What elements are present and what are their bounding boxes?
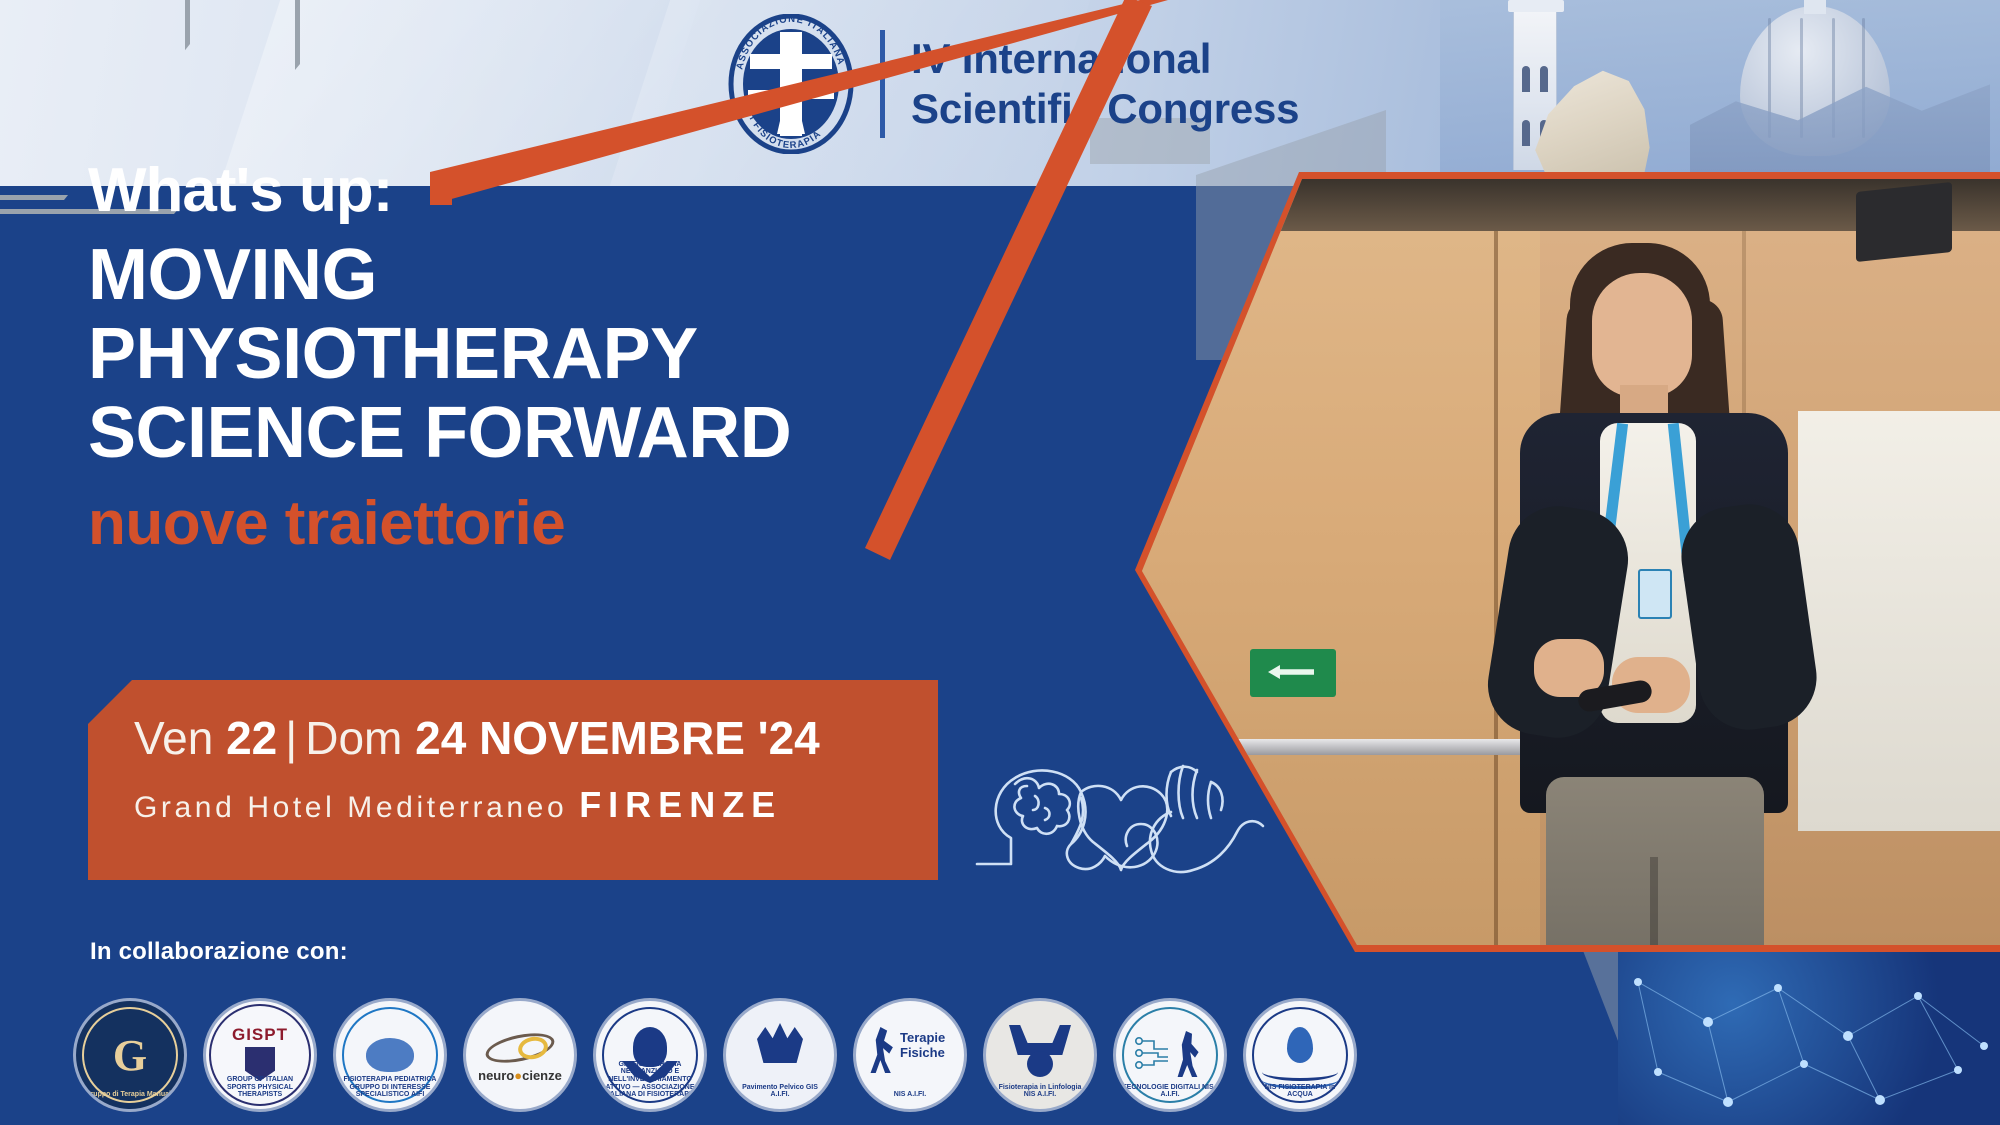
- logo-caption: NIS A.I.FI.: [856, 1091, 964, 1099]
- logo-caption: GROUP OF ITALIAN SPORTS PHYSICAL THERAPI…: [206, 1076, 314, 1099]
- logo-caption: GIS FISIOTERAPIA NELL'ANZIANO E NELL'INV…: [596, 1061, 704, 1099]
- logo-fisioterapia-in-acqua[interactable]: NIS FISIOTERAPIA in ACQUA: [1246, 1001, 1354, 1109]
- day-number-end: 24: [415, 712, 466, 764]
- headline-line-2: PHYSIOTHERAPY: [88, 317, 1088, 392]
- date-line: Ven 22|Dom 24 NOVEMBRE '24: [134, 714, 938, 762]
- congress-title: IV International Scientific Congress: [911, 34, 1299, 133]
- aifi-logo-icon: ASSOCIAZIONE ITALIANA di FISIOTERAPIA: [728, 14, 854, 154]
- date-banner: Ven 22|Dom 24 NOVEMBRE '24 Grand Hotel M…: [88, 680, 938, 880]
- venue-line: Grand Hotel Mediterraneo FIRENZE: [134, 784, 938, 826]
- logo-tecnologie-digitali[interactable]: TECNOLOGIE DIGITALI NIS | A.I.FI.: [1116, 1001, 1224, 1109]
- bottom-strip: [0, 1119, 1618, 1125]
- logo-fisioterapia-linfologia[interactable]: Fisioterapia in Linfologia NIS A.I.FI.: [986, 1001, 1094, 1109]
- headline-subtitle: nuove traiettorie: [88, 493, 1088, 555]
- month-year: NOVEMBRE '24: [479, 712, 820, 764]
- logo-caption: Gruppo di Terapia Manuale: [76, 1091, 184, 1099]
- logo-caption: TECNOLOGIE DIGITALI NIS | A.I.FI.: [1116, 1084, 1224, 1099]
- logo-gispt[interactable]: GISPT GROUP OF ITALIAN SPORTS PHYSICAL T…: [206, 1001, 314, 1109]
- headline-block: What's up: MOVING PHYSIOTHERAPY SCIENCE …: [88, 160, 1088, 555]
- logo-neuroscienze[interactable]: neuro●cienze: [466, 1001, 574, 1109]
- congress-title-line-2: Scientific Congress: [911, 84, 1299, 134]
- date-separator: |: [277, 712, 305, 764]
- duomo-dome-icon: [1690, 0, 1990, 184]
- day-label-start: Ven: [134, 712, 213, 764]
- logo-mark: TerapieFisiche: [900, 1031, 945, 1061]
- collaboration-label: In collaborazione con:: [90, 938, 348, 966]
- video-frame: [1142, 179, 2000, 945]
- city-name: FIRENZE: [579, 784, 782, 825]
- brain-heart-hand-lineart-icon: [975, 752, 1265, 892]
- logo-pavimento-pelvico[interactable]: Pavimento Pelvico GIS A.I.FI.: [726, 1001, 834, 1109]
- congress-title-line-1: IV International: [911, 34, 1299, 84]
- logo-mark: neuro●cienze: [478, 1068, 562, 1083]
- logo-caption: Pavimento Pelvico GIS A.I.FI.: [726, 1084, 834, 1099]
- logo-caption: Fisioterapia in Linfologia NIS A.I.FI.: [986, 1084, 1094, 1099]
- logo-fisioterapia-pediatrica[interactable]: FISIOTERAPIA PEDIATRICA GRUPPO DI INTERE…: [336, 1001, 444, 1109]
- headline-kicker: What's up:: [88, 160, 1088, 222]
- logo-caption: NIS FISIOTERAPIA in ACQUA: [1246, 1084, 1354, 1099]
- neural-network-graphic: [1618, 952, 2000, 1125]
- exit-sign-icon: [1250, 649, 1336, 697]
- day-label-end: Dom: [305, 712, 402, 764]
- logo-mark: GISPT: [232, 1025, 288, 1045]
- logo-fisioterapia-anziano[interactable]: GIS FISIOTERAPIA NELL'ANZIANO E NELL'INV…: [596, 1001, 704, 1109]
- logo-gruppo-terapia-manuale[interactable]: G Gruppo di Terapia Manuale: [76, 1001, 184, 1109]
- congress-poster: ASSOCIAZIONE ITALIANA di FISIOTERAPIA IV…: [0, 0, 2000, 1125]
- venue-name: Grand Hotel Mediterraneo: [134, 791, 567, 824]
- headline-line-3: SCIENCE FORWARD: [88, 396, 1088, 471]
- headline-line-1: MOVING: [88, 238, 1088, 313]
- speaker-person: [1442, 237, 1872, 945]
- logo-terapie-fisiche[interactable]: TerapieFisiche NIS A.I.FI.: [856, 1001, 964, 1109]
- day-number-start: 22: [226, 712, 277, 764]
- collaborator-logo-row: G Gruppo di Terapia Manuale GISPT GROUP …: [76, 990, 1366, 1120]
- brand-divider: [880, 30, 885, 138]
- brand-block: ASSOCIAZIONE ITALIANA di FISIOTERAPIA IV…: [728, 4, 1299, 164]
- logo-caption: FISIOTERAPIA PEDIATRICA GRUPPO DI INTERE…: [336, 1076, 444, 1099]
